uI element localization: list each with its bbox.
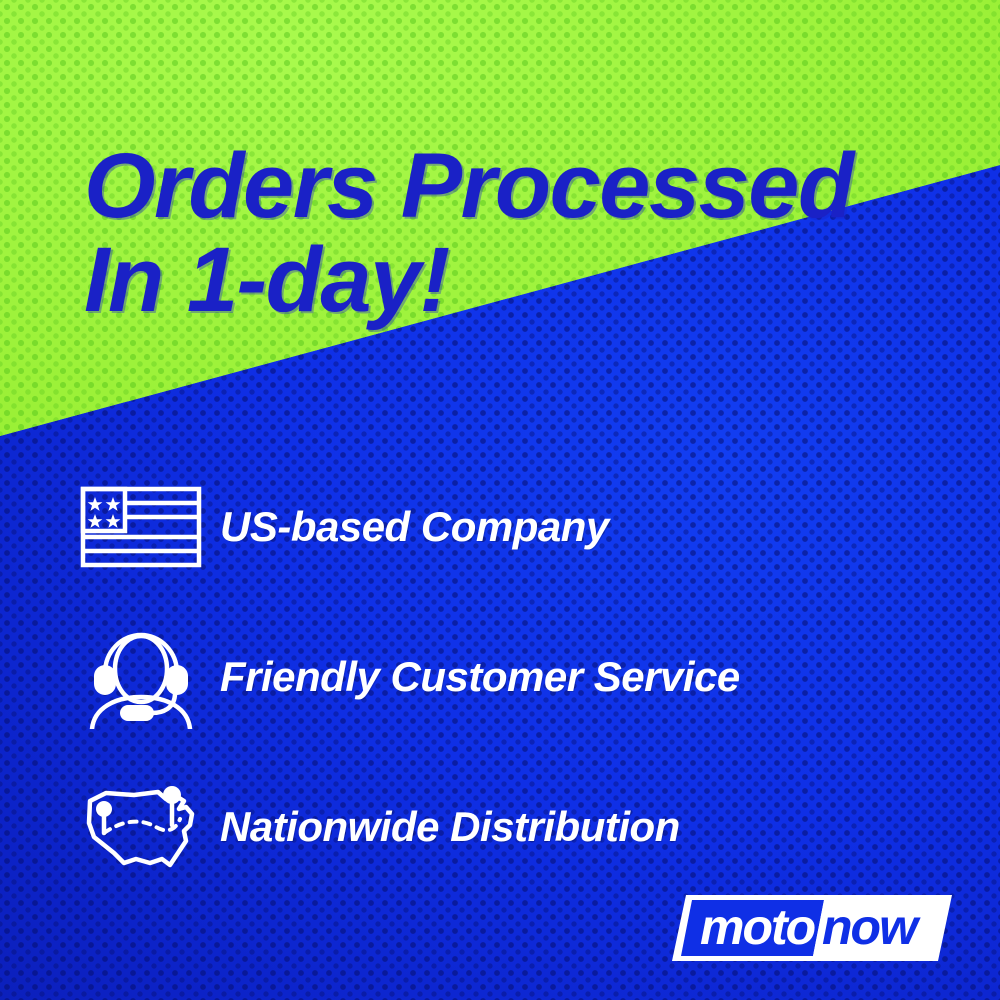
- feature-list: US-based Company: [80, 452, 940, 902]
- logo-text-moto: moto: [700, 899, 815, 955]
- feature-label: Friendly Customer Service: [220, 653, 740, 701]
- feature-row-us-based: US-based Company: [80, 452, 940, 602]
- logo-text-now: now: [822, 899, 921, 955]
- feature-label: Nationwide Distribution: [220, 803, 680, 851]
- feature-row-nationwide: Nationwide Distribution: [80, 752, 940, 902]
- headset-support-icon: [80, 622, 220, 732]
- us-map-route-icon: [80, 772, 220, 882]
- promo-poster: Orders Processed In 1-day!: [0, 0, 1000, 1000]
- feature-label: US-based Company: [220, 503, 609, 551]
- headline: Orders Processed In 1-day!: [84, 56, 974, 412]
- us-flag-icon: [80, 472, 220, 582]
- headline-line-1: Orders Processed: [84, 135, 853, 237]
- motonow-logo[interactable]: moto now: [672, 895, 952, 961]
- headline-line-2: In 1-day!: [84, 237, 974, 324]
- feature-row-customer-service: Friendly Customer Service: [80, 602, 940, 752]
